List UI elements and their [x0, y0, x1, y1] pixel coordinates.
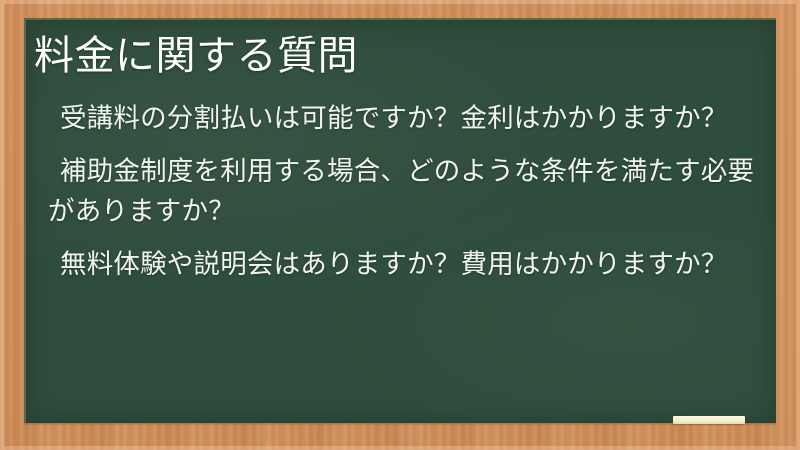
list-item: 無料体験や説明会はありますか？費用はかかりますか？ — [48, 244, 763, 284]
chalk-stick-icon — [673, 416, 745, 424]
chalkboard-surface: 料金に関する質問 受講料の分割払いは可能ですか？金利はかかりますか？ 補助金制度… — [24, 18, 776, 423]
page-title: 料金に関する質問 — [34, 30, 764, 82]
board-ledge-shadow — [24, 423, 776, 426]
slide-chalkboard: 料金に関する質問 受講料の分割払いは可能ですか？金利はかかりますか？ 補助金制度… — [0, 0, 800, 450]
question-list: 受講料の分割払いは可能ですか？金利はかかりますか？ 補助金制度を利用する場合、ど… — [48, 98, 763, 284]
list-item: 受講料の分割払いは可能ですか？金利はかかりますか？ — [48, 98, 763, 138]
list-item: 補助金制度を利用する場合、どのような条件を満たす必要がありますか？ — [48, 151, 763, 231]
